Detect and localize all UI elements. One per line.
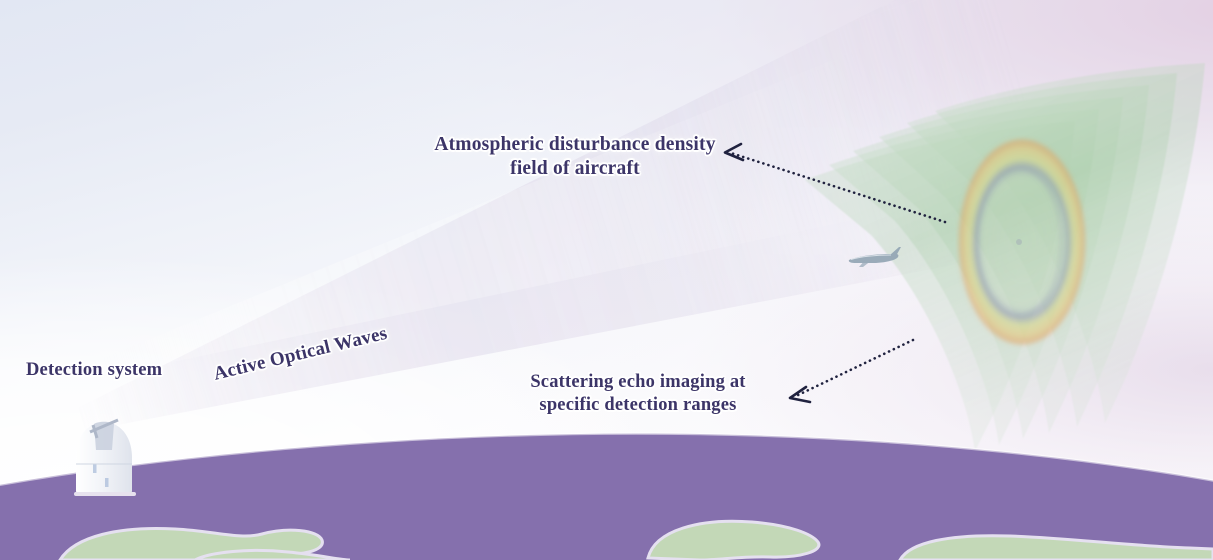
label-atmospheric-disturbance-field: Atmospheric disturbance density field of… — [422, 133, 728, 181]
label-scattering-echo-imaging: Scattering echo imaging at specific dete… — [515, 371, 761, 416]
arrow-to-echo-line — [796, 340, 913, 396]
label-detection-system: Detection system — [26, 359, 162, 382]
arrow-to-field-line — [731, 153, 945, 222]
annotation-arrows — [0, 0, 1213, 560]
diagram-canvas: Atmospheric disturbance density field of… — [0, 0, 1213, 560]
arrow-to-echo-head — [790, 387, 810, 402]
